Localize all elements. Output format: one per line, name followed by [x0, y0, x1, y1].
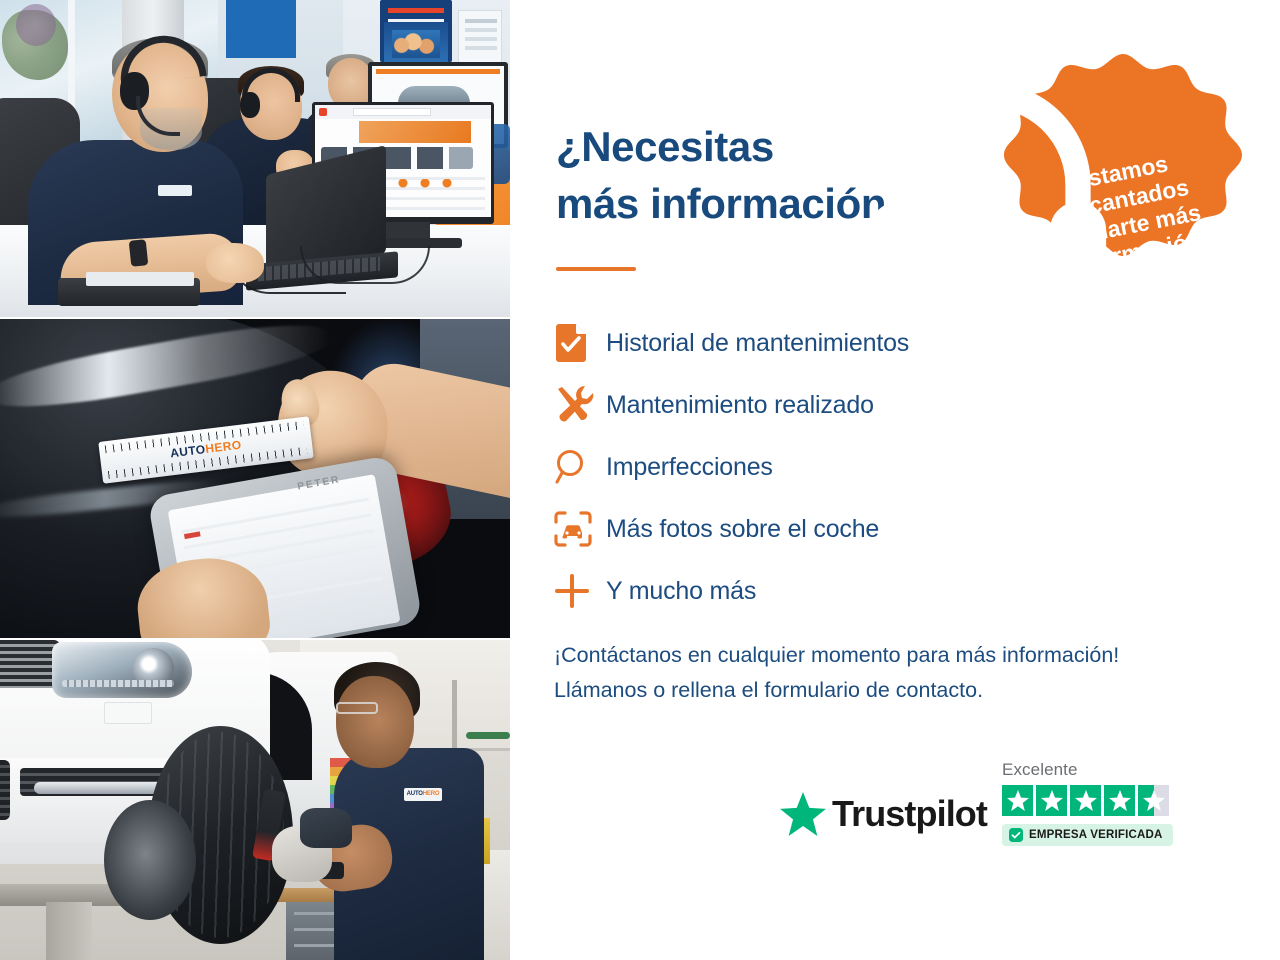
verified-check-icon	[1009, 828, 1023, 842]
background-monitor-orange-bar	[376, 69, 500, 74]
title-divider	[556, 267, 636, 271]
star-1	[1002, 785, 1033, 816]
screen-feature-icons	[375, 179, 469, 188]
mechanic-glove-second	[300, 808, 352, 848]
magnifier-icon	[554, 447, 606, 487]
feature-item-fotos: Más fotos sobre el coche	[554, 498, 1114, 560]
wheel-rim	[104, 800, 196, 920]
trustpilot-logo[interactable]: Trustpilot	[780, 792, 987, 836]
workshop-tire-photo: AUTOHERO	[0, 640, 510, 960]
feature-item-imperfecciones: Imperfecciones	[554, 436, 1114, 498]
star-3	[1070, 785, 1101, 816]
photo-column: AUTOHERO PETER	[0, 0, 510, 960]
feature-list: Historial de mantenimientos Mantenimient…	[554, 312, 1114, 622]
car-lift-post	[46, 902, 92, 960]
logo-hero: HERO	[205, 438, 243, 456]
wall-blue-band	[226, 0, 296, 58]
star-2	[1036, 785, 1067, 816]
license-plate-area	[104, 702, 152, 724]
trustpilot-wordmark: Trustpilot	[832, 793, 987, 835]
poster-text-lines	[388, 8, 444, 13]
patch-auto: AUTO	[407, 791, 423, 797]
feature-label: Mantenimiento realizado	[606, 391, 874, 420]
feature-item-mantenimiento: Mantenimiento realizado	[554, 374, 1114, 436]
mechanic-glasses	[336, 702, 378, 714]
car-inspection-photo: AUTOHERO PETER	[0, 319, 510, 638]
plus-icon	[554, 571, 606, 611]
patch-hero: HERO	[423, 791, 440, 797]
feature-item-mucho-mas: Y mucho más	[554, 560, 1114, 622]
logo-auto: AUTO	[169, 442, 206, 460]
desk-cable-secondary	[300, 246, 430, 284]
autohero-uniform-patch: AUTOHERO	[404, 788, 442, 801]
mechanic-head	[336, 676, 414, 768]
green-hose	[466, 732, 510, 739]
car-grille	[0, 640, 60, 688]
feature-label: Más fotos sobre el coche	[606, 515, 879, 544]
document-check-icon	[554, 323, 606, 363]
marketing-banner: AUTOHERO PETER	[0, 0, 1280, 960]
screen-search-bar	[353, 108, 431, 116]
verified-badge-text: EMPRESA VERIFICADA	[1029, 829, 1163, 841]
feature-item-historial: Historial de mantenimientos	[554, 312, 1114, 374]
trustpilot-widget[interactable]: Trustpilot Excelente	[780, 760, 1200, 880]
contact-line-1: ¡Contáctanos en cualquier momento para m…	[554, 638, 1234, 673]
headlight-led-strip	[62, 680, 174, 687]
contact-text: ¡Contáctanos en cualquier momento para m…	[554, 638, 1234, 708]
agent-two-headset-cup	[240, 92, 260, 118]
car-photo-icon	[554, 509, 606, 549]
feature-label: Imperfecciones	[606, 453, 773, 482]
contact-line-2: Llámanos o rellena el formulario de cont…	[554, 673, 1234, 708]
rating-label: Excelente	[1002, 760, 1202, 780]
trustpilot-rating: Excelente	[1002, 760, 1202, 847]
window-tree	[16, 4, 56, 46]
star-4	[1104, 785, 1135, 816]
agent-one-logo-patch	[158, 185, 192, 196]
screen-logo-dot	[319, 108, 327, 116]
agent-one-hand	[206, 243, 264, 283]
screen-hero-image	[359, 121, 471, 143]
poster-people	[392, 30, 440, 58]
star-5-half	[1138, 785, 1169, 816]
verified-company-badge: EMPRESA VERIFICADA	[1002, 824, 1173, 846]
feature-label: Y mucho más	[606, 577, 756, 606]
call-center-agents-photo	[0, 0, 510, 317]
star-rating	[1002, 785, 1202, 816]
desk-notebook	[86, 272, 194, 286]
content-panel: ¿Necesitas más información? Estamos enca…	[510, 0, 1280, 960]
agent-one-watch	[129, 239, 149, 267]
tools-icon	[554, 385, 606, 425]
bumper-side-vent	[0, 760, 10, 820]
feature-label: Historial de mantenimientos	[606, 329, 909, 358]
headset-icon	[853, 50, 1123, 320]
support-badge: Estamos encantados de darte más informac…	[988, 50, 1258, 320]
trustpilot-star-icon	[780, 792, 826, 836]
